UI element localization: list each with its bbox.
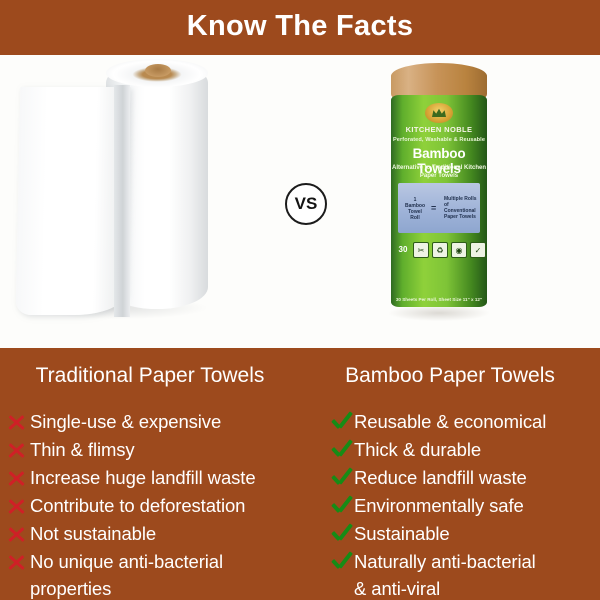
column-heading-traditional: Traditional Paper Towels: [0, 364, 300, 388]
list-item-label: Reduce landfill waste: [354, 464, 527, 491]
list-item-label: Increase huge landfill waste: [30, 464, 256, 491]
list-item: Not sustainable: [4, 520, 300, 548]
header-banner: Know The Facts: [0, 0, 600, 55]
comparison-headings: Traditional Paper Towels Bamboo Paper To…: [0, 364, 600, 388]
bamboo-label-logo-icon: [425, 103, 453, 123]
list-item-label: Sustainable: [354, 520, 450, 547]
sheet-count-badge: 30: [396, 242, 410, 256]
plastic-free-icon: ◉: [451, 242, 467, 258]
list-item: Thin & flimsy: [4, 436, 300, 464]
bamboo-label-footer: 30 Sheets Per Roll, Sheet Size 11" x 12": [391, 297, 487, 302]
infographic-page: Know The Facts VS KITCHEN NOBLE P: [0, 0, 600, 600]
comparison-panel-equals: =: [431, 203, 436, 213]
bamboo-roll-shadow: [389, 305, 489, 321]
x-mark-icon: [4, 409, 30, 436]
list-item-label: Environmentally safe: [354, 492, 524, 519]
recycle-icon: ♻: [432, 242, 448, 258]
check-mark-icon: [328, 409, 354, 436]
bamboo-label-comparison-panel: 1 Bamboo Towel Roll = Multiple Rolls of …: [398, 183, 480, 233]
list-item-label: Not sustainable: [30, 520, 156, 547]
bamboo-towel-roll-image: KITCHEN NOBLE Perforated, Washable & Reu…: [385, 63, 493, 325]
x-mark-icon: [4, 465, 30, 492]
list-item-label: Naturally anti-bacterial & anti-viral: [354, 548, 536, 600]
x-mark-icon: [4, 521, 30, 548]
paper-roll-sheet-fold: [114, 85, 130, 317]
column-heading-bamboo: Bamboo Paper Towels: [300, 364, 600, 388]
list-item: Sustainable: [328, 520, 600, 548]
vs-label: VS: [295, 195, 318, 213]
bamboo-label-subtitle: Alternative to Traditional Kitchen Paper…: [391, 164, 487, 180]
bamboo-roll-label: KITCHEN NOBLE Perforated, Washable & Reu…: [391, 95, 487, 307]
check-mark-icon: [328, 437, 354, 464]
product-image-area: VS KITCHEN NOBLE Perforated, Washable & …: [0, 55, 600, 348]
x-mark-icon: [4, 493, 30, 520]
x-mark-icon: [4, 549, 30, 576]
list-item: Increase huge landfill waste: [4, 464, 300, 492]
crown-icon: [432, 108, 446, 117]
check-mark-icon: [328, 493, 354, 520]
check-mark-icon: [328, 549, 354, 576]
comparison-panel-left-text: 1 Bamboo Towel Roll: [404, 197, 426, 221]
vs-badge: VS: [285, 183, 327, 225]
list-item-label: Thin & flimsy: [30, 436, 135, 463]
list-item: Environmentally safe: [328, 492, 600, 520]
list-item: Reusable & economical: [328, 408, 600, 436]
list-item: Contribute to deforestation: [4, 492, 300, 520]
traditional-cons-list: Single-use & expensive Thin & flimsy Inc…: [0, 408, 300, 600]
bamboo-label-icon-strip: 30 ✂ ♻ ◉ ✓: [394, 239, 487, 281]
list-item: Naturally anti-bacterial & anti-viral: [328, 548, 600, 600]
list-item: Thick & durable: [328, 436, 600, 464]
bamboo-label-tagline: Perforated, Washable & Reusable: [391, 137, 487, 143]
bamboo-pros-list: Reusable & economical Thick & durable Re…: [300, 408, 600, 600]
list-item-label: Thick & durable: [354, 436, 481, 463]
comparison-columns: Single-use & expensive Thin & flimsy Inc…: [0, 408, 600, 600]
comparison-panel-right-text: Multiple Rolls of Conventional Paper Tow…: [444, 196, 477, 220]
list-item: No unique anti-bacterial properties: [4, 548, 300, 600]
list-item: Reduce landfill waste: [328, 464, 600, 492]
check-mark-icon: [328, 465, 354, 492]
list-item-label: Contribute to deforestation: [30, 492, 245, 519]
page-title: Know The Facts: [187, 12, 414, 44]
list-item: Single-use & expensive: [4, 408, 300, 436]
paper-roll-core-icon: [145, 64, 171, 77]
comparison-section: Traditional Paper Towels Bamboo Paper To…: [0, 348, 600, 600]
perforated-icon: ✂: [413, 242, 429, 258]
bamboo-label-brand: KITCHEN NOBLE: [391, 125, 487, 134]
list-item-label: Single-use & expensive: [30, 408, 221, 435]
list-item-label: No unique anti-bacterial properties: [30, 548, 223, 600]
check-mark-icon: [328, 521, 354, 548]
x-mark-icon: [4, 437, 30, 464]
traditional-paper-towel-roll-image: [18, 61, 208, 321]
list-item-label: Reusable & economical: [354, 408, 546, 435]
cellulose-icon: ✓: [470, 242, 486, 258]
